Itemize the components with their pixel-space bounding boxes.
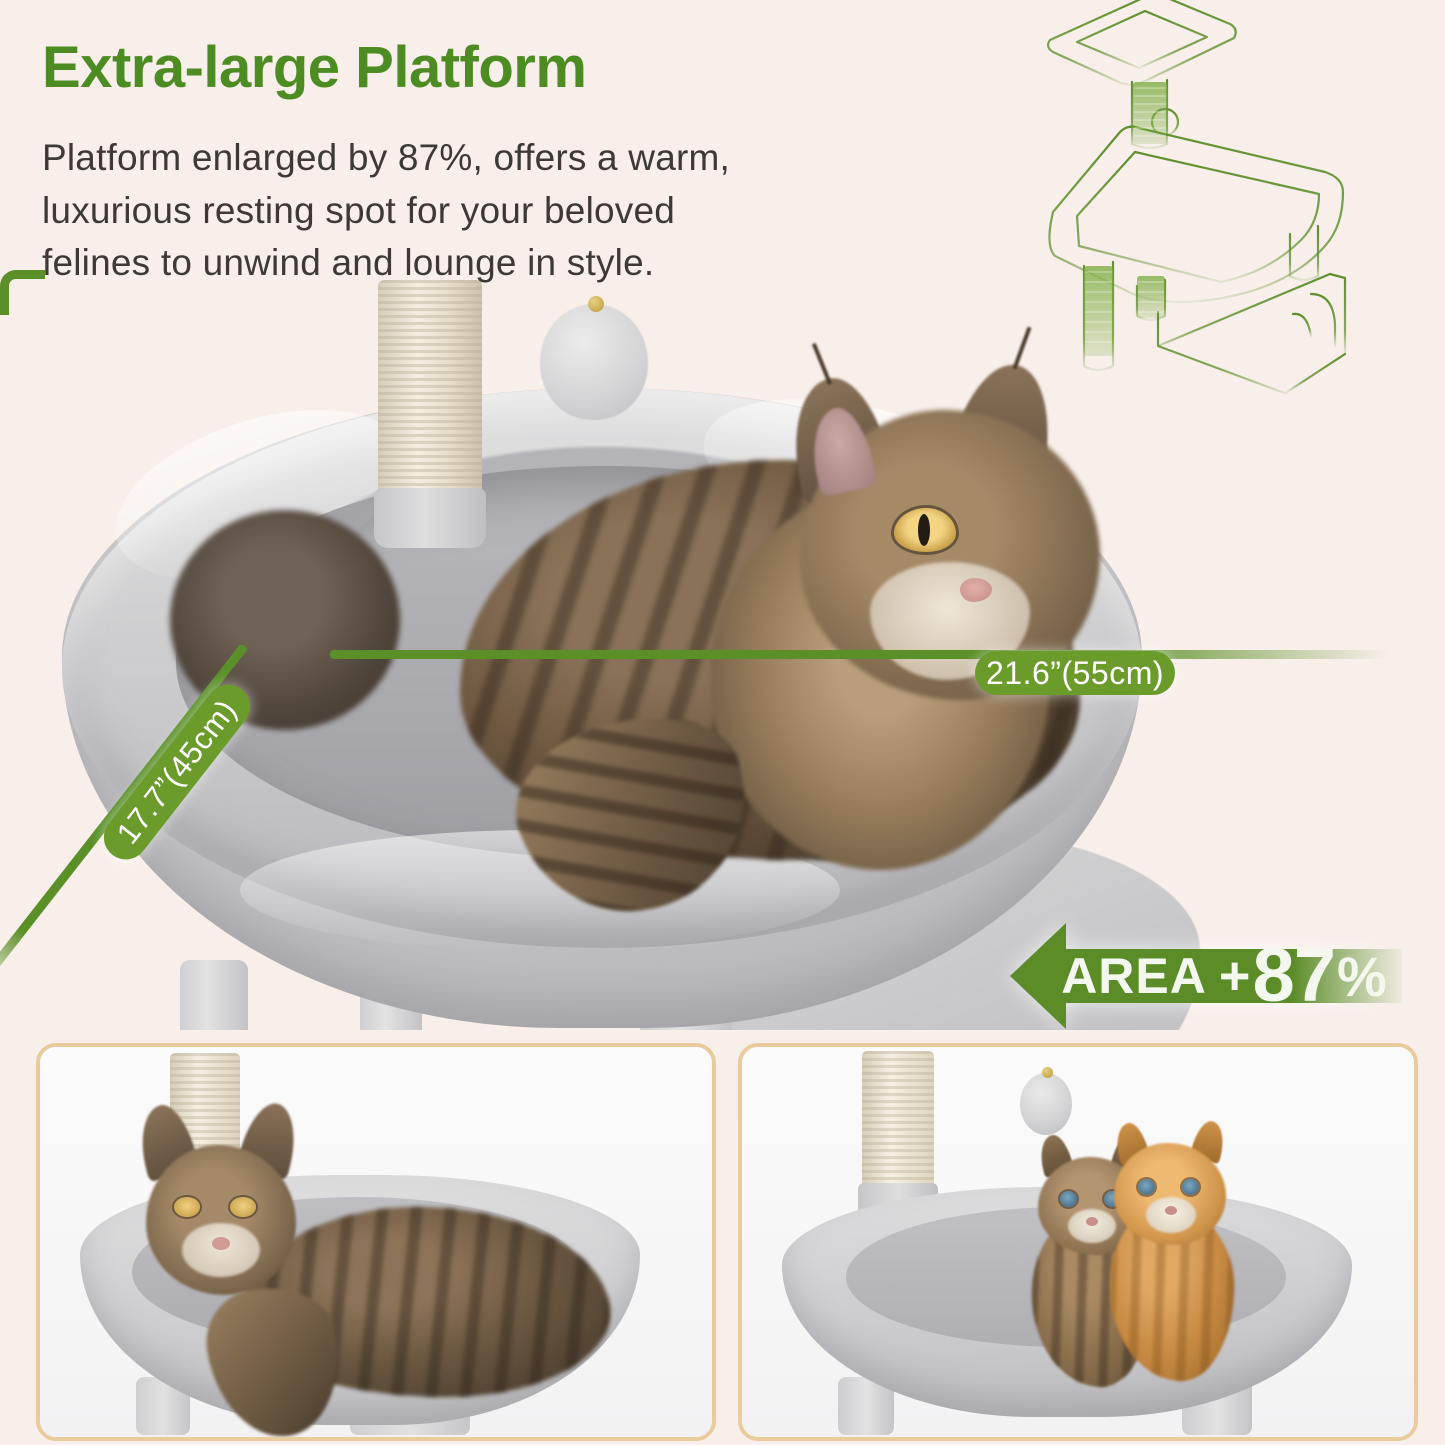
kitten-muzzle — [1146, 1197, 1196, 1233]
kitten-eye-right — [1182, 1179, 1199, 1195]
kitten-nose — [1165, 1206, 1177, 1215]
body-copy: Platform enlarged by 87%, offers a warm,… — [42, 132, 730, 290]
ear-tuft — [1013, 327, 1032, 370]
panel-two-kittens — [738, 1043, 1418, 1441]
cat-nose — [212, 1237, 230, 1250]
dimension-elbow — [0, 270, 45, 315]
product-feature-image: Extra-large Platform Platform enlarged b… — [0, 0, 1445, 1445]
cat-muzzle — [182, 1223, 260, 1277]
cat-eye-left — [174, 1197, 200, 1217]
maine-coon-cat — [100, 1087, 580, 1417]
kitten-muzzle — [1068, 1209, 1116, 1243]
panel-cat-lying — [36, 1043, 716, 1441]
width-dimension-label: 21.6”(55cm) — [975, 651, 1175, 695]
width-dimension-line — [330, 650, 1390, 659]
kitten-eye-left — [1138, 1179, 1155, 1195]
sisal-scratching-post — [862, 1051, 934, 1201]
kitten-orange — [1110, 1121, 1234, 1383]
hero-product-photo: 21.6”(55cm) 17.7”(45cm) AREA + 87 % — [0, 270, 1445, 1030]
maine-coon-cat — [400, 290, 1160, 910]
kitten-nose — [1086, 1217, 1098, 1226]
cat-pupil — [918, 514, 930, 546]
cat-eye-right — [230, 1197, 256, 1217]
page-title: Extra-large Platform — [42, 38, 586, 99]
area-increase-badge — [1010, 913, 1402, 1030]
ear-tuft — [812, 343, 832, 385]
body-copy-line-2: luxurious resting spot for your beloved — [42, 185, 730, 238]
platform-leg — [180, 960, 248, 1030]
bell-icon — [1042, 1067, 1053, 1078]
pompom-ball-toy — [1020, 1073, 1072, 1135]
body-copy-line-1: Platform enlarged by 87%, offers a warm, — [42, 132, 730, 185]
kitten-eye-left — [1060, 1191, 1077, 1207]
